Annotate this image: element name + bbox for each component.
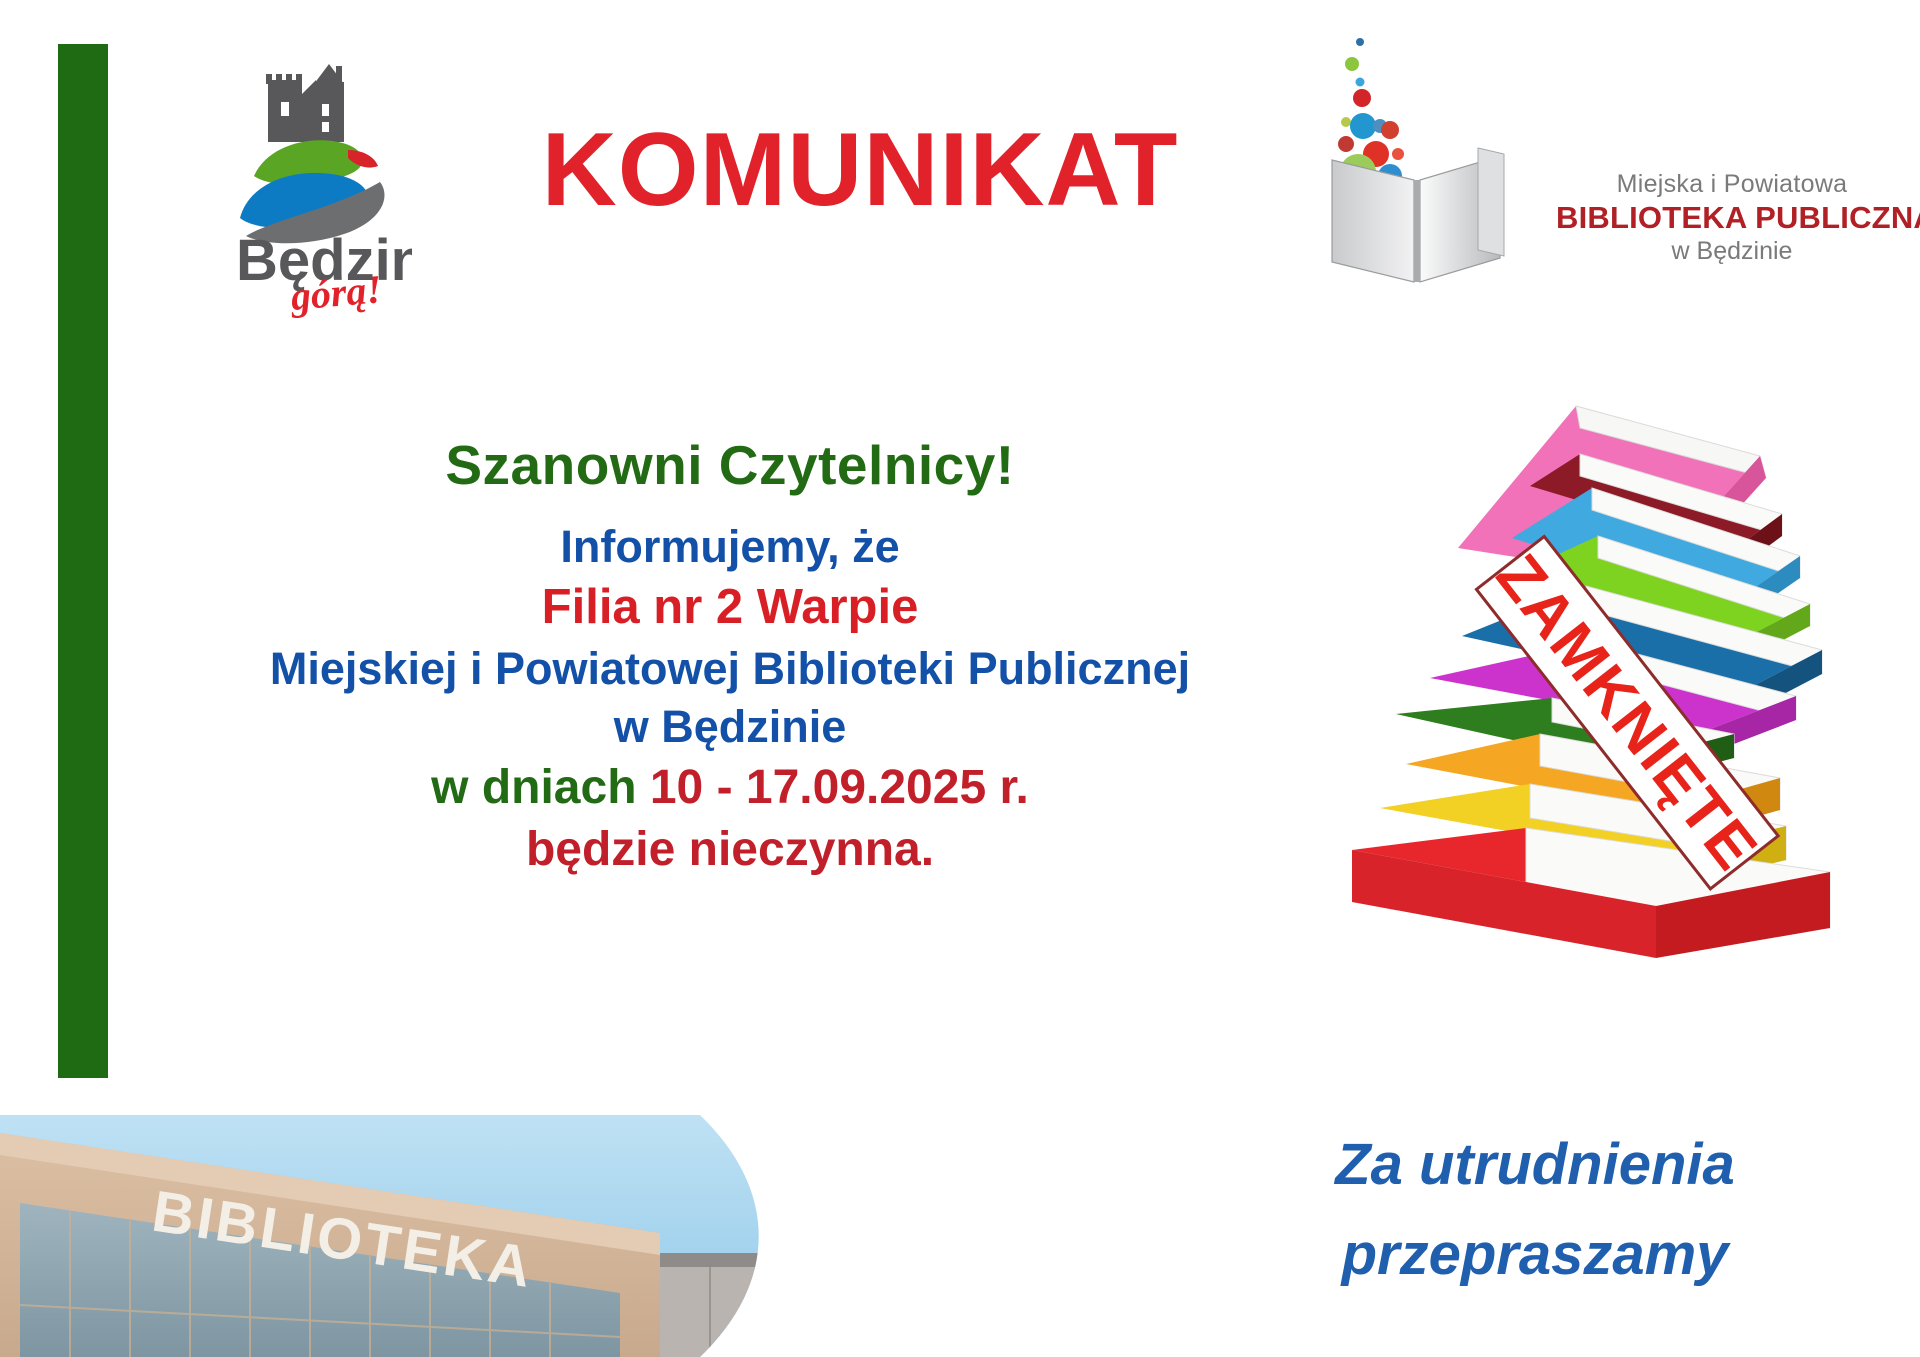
photo-content: BIBLIOTEKA bbox=[0, 1115, 1130, 1357]
library-logo-line2: BIBLIOTEKA PUBLICZNA bbox=[1556, 199, 1908, 236]
green-accent-bar bbox=[58, 44, 108, 1078]
city-line: w Będzinie bbox=[140, 698, 1320, 757]
dates-range: 10 - 17.09.2025 r. bbox=[650, 761, 1029, 814]
announcement-poster: Będzin górą! KOMUNIKAT bbox=[0, 0, 1920, 1357]
book-left-page bbox=[1332, 160, 1414, 282]
dates-line: w dniach 10 - 17.09.2025 r. bbox=[140, 757, 1320, 819]
closed-line: będzie nieczynna. bbox=[140, 819, 1320, 881]
right-wing bbox=[660, 1261, 900, 1357]
library-logo-line3: w Będzinie bbox=[1556, 236, 1908, 266]
book-spine bbox=[1414, 180, 1420, 282]
dates-prefix: w dniach bbox=[431, 761, 650, 814]
library-logo-line1: Miejska i Powiatowa bbox=[1556, 170, 1908, 199]
institution-line: Miejskiej i Powiatowej Biblioteki Public… bbox=[140, 640, 1320, 699]
apology-line2: przepraszamy bbox=[1215, 1210, 1855, 1300]
book-back-cover bbox=[1478, 148, 1504, 256]
right-wing-parapet bbox=[660, 1253, 900, 1267]
flag-pole bbox=[1020, 1233, 1023, 1279]
greeting-line: Szanowni Czytelnicy! bbox=[140, 430, 1320, 502]
closed-books-illustration: ZAMKNIĘTE bbox=[1330, 378, 1910, 998]
library-logo: Miejska i Powiatowa BIBLIOTEKA PUBLICZNA… bbox=[1328, 30, 1908, 294]
announcement-body: Szanowni Czytelnicy! Informujemy, że Fil… bbox=[140, 430, 1320, 881]
library-logo-text: Miejska i Powiatowa BIBLIOTEKA PUBLICZNA… bbox=[1556, 170, 1908, 266]
castle-icon bbox=[266, 64, 344, 142]
open-book-icon bbox=[1328, 30, 1548, 294]
apology-line1: Za utrudnienia bbox=[1215, 1120, 1855, 1210]
page-title: KOMUNIKAT bbox=[520, 116, 1200, 225]
apology-text: Za utrudnienia przepraszamy bbox=[1215, 1120, 1855, 1300]
library-building-photo: BIBLIOTEKA bbox=[0, 1115, 1130, 1357]
intro-line: Informujemy, że bbox=[140, 518, 1320, 577]
rooftop-fixture bbox=[888, 1219, 902, 1267]
branch-line: Filia nr 2 Warpie bbox=[140, 576, 1320, 640]
bedzin-tagline: górą! bbox=[288, 266, 384, 318]
bedzin-city-logo: Będzin górą! bbox=[196, 58, 412, 318]
